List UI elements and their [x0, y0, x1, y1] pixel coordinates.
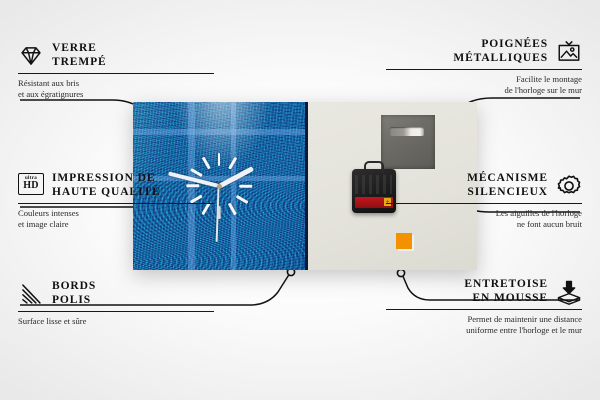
- feature-title: POIGNÉES MÉTALLIQUES: [453, 38, 548, 65]
- feature-header: ultra HD IMPRESSION DE HAUTE QUALITÉ: [18, 172, 214, 203]
- feature-header: MÉCANISME SILENCIEUX: [386, 172, 582, 203]
- anchor-dot-entretoise: [397, 269, 404, 276]
- feature-description: Facilite le montage de l'horloge sur le …: [386, 74, 582, 96]
- feature-rule: [18, 73, 214, 74]
- feature-impression-haute-qualite: ultra HD IMPRESSION DE HAUTE QUALITÉ Cou…: [18, 172, 214, 230]
- feature-title: VERRE TREMPÉ: [52, 42, 107, 69]
- feature-description: Les aiguilles de l'horloge ne font aucun…: [386, 208, 582, 230]
- feature-description: Résistant aux bris et aux égratignures: [18, 78, 214, 100]
- feature-title: MÉCANISME SILENCIEUX: [467, 172, 548, 199]
- feature-title: BORDS POLIS: [52, 280, 96, 307]
- movement-hanging-loop: [364, 161, 384, 173]
- foam-spacer: [396, 233, 412, 249]
- feature-rule: [18, 311, 214, 312]
- infographic-canvas: + VERRE TREMPÉ Résistant aux bris et aux…: [0, 0, 600, 400]
- polished-edge-icon: [18, 281, 44, 307]
- feature-mecanisme-silencieux: MÉCANISME SILENCIEUX Les aiguilles de l'…: [386, 172, 582, 230]
- clock-center-pin: [217, 184, 222, 189]
- feature-title: IMPRESSION DE HAUTE QUALITÉ: [52, 172, 161, 199]
- arrow-onto-pad-icon: [556, 279, 582, 305]
- ultra-hd-icon: ultra HD: [18, 173, 44, 199]
- framed-picture-hook-icon: [556, 39, 582, 65]
- feature-entretoise-en-mousse: ENTRETOISE EN MOUSSE Permet de maintenir…: [386, 278, 582, 336]
- feature-rule: [386, 203, 582, 204]
- diamond-icon: [18, 43, 44, 69]
- feature-header: BORDS POLIS: [18, 280, 214, 311]
- feature-bords-polis: BORDS POLIS Surface lisse et sûre: [18, 280, 214, 327]
- feature-header: VERRE TREMPÉ: [18, 42, 214, 73]
- feature-description: Permet de maintenir une distance uniform…: [386, 314, 582, 336]
- hanger-keyhole-slot: [390, 127, 423, 136]
- feature-rule: [18, 203, 214, 204]
- feature-verre-trempe: VERRE TREMPÉ Résistant aux bris et aux é…: [18, 42, 214, 100]
- feature-description: Surface lisse et sûre: [18, 316, 214, 327]
- gear-icon: [556, 173, 582, 199]
- feature-title: ENTRETOISE EN MOUSSE: [464, 278, 548, 305]
- feature-rule: [386, 309, 582, 310]
- feature-header: POIGNÉES MÉTALLIQUES: [386, 38, 582, 69]
- ultra-hd-icon-main: HD: [23, 181, 38, 191]
- feature-rule: [386, 69, 582, 70]
- feature-description: Couleurs intenses et image claire: [18, 208, 214, 230]
- feature-poignees-metalliques: POIGNÉES MÉTALLIQUES Facilite le montage…: [386, 38, 582, 96]
- metal-hanger-plate: [381, 115, 435, 169]
- feature-header: ENTRETOISE EN MOUSSE: [386, 278, 582, 309]
